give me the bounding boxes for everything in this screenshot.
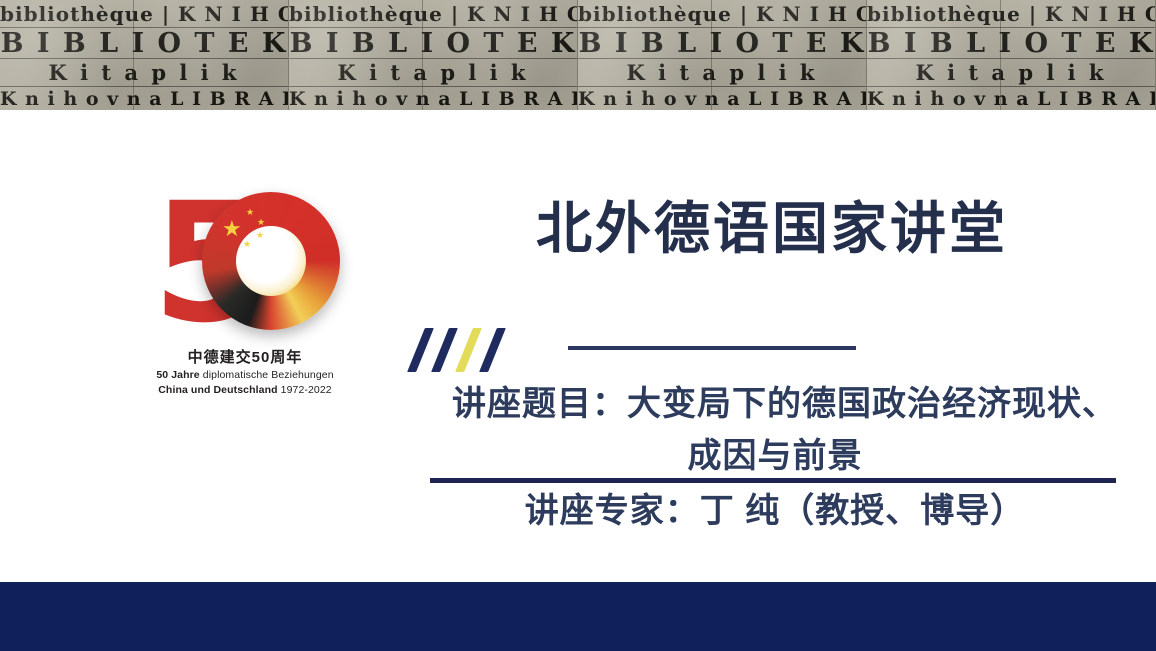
- facade-row-3: K i t a p l i k: [289, 59, 577, 87]
- facade-row-2: B I B L I O T E K: [578, 28, 866, 59]
- logo-caption-german-1-bold: 50 Jahre: [156, 369, 199, 381]
- facade-tile: bibliothèque | K N I H O V N A | B I B L…: [0, 0, 289, 110]
- facade-row-2: B I B L I O T E K: [867, 28, 1155, 59]
- divider-short: [568, 346, 856, 350]
- slash-mark-2: [431, 328, 458, 372]
- facade-row-1: bibliothèque | K N I H O V N A |: [578, 0, 866, 28]
- lecture-topic-line-2: 成因与前景: [430, 430, 1120, 482]
- mortar-seam: [133, 0, 134, 110]
- logo-mark: 5 ★ ★ ★ ★ ★: [150, 192, 340, 342]
- facade-tile: bibliothèque | K N I H O V N A | B I B L…: [867, 0, 1156, 110]
- facade-row-1: bibliothèque | K N I H O V N A |: [0, 0, 288, 28]
- facade-row-3: K i t a p l i k: [0, 59, 288, 87]
- mortar-seam: [422, 0, 423, 110]
- logo-caption-german-2-rest: 1972-2022: [278, 384, 332, 396]
- facade-row-2: B I B L I O T E K: [0, 28, 288, 59]
- facade-row-4: K n i h o v n a L I B R A R Y: [867, 87, 1155, 110]
- facade-row-1: bibliothèque | K N I H O V N A |: [867, 0, 1155, 28]
- logo-caption-german-1-rest: diplomatische Beziehungen: [200, 369, 334, 381]
- facade-row-3: K i t a p l i k: [578, 59, 866, 87]
- page-title: 北外德语国家讲堂: [536, 198, 1096, 260]
- logo-caption-german-1: 50 Jahre diplomatische Beziehungen: [138, 368, 352, 383]
- facade-row-2: B I B L I O T E K: [289, 28, 577, 59]
- facade-tile: bibliothèque | K N I H O V N A | B I B L…: [289, 0, 578, 110]
- china-germany-50-logo: 5 ★ ★ ★ ★ ★ 中德建交50周年 50 Jahre diplomatis…: [138, 192, 352, 404]
- lecture-poster: bibliothèque | K N I H O V N A | B I B L…: [0, 0, 1156, 651]
- logo-caption-german-2: China und Deutschland 1972-2022: [138, 383, 352, 398]
- slash-mark-4: [479, 328, 506, 372]
- facade-tile: bibliothèque | K N I H O V N A | B I B L…: [578, 0, 867, 110]
- lecture-speaker: 讲座专家：丁 纯（教授、博导）: [430, 487, 1120, 535]
- mortar-seam: [1000, 0, 1001, 110]
- facade-row-4: K n i h o v n a L I B R A R Y: [0, 87, 288, 110]
- slash-decoration: [414, 328, 524, 372]
- lecture-topic-line-1: 讲座题目：大变局下的德国政治经济现状、: [430, 378, 1120, 430]
- slash-mark-1: [407, 328, 434, 372]
- lecture-topic: 讲座题目：大变局下的德国政治经济现状、 成因与前景: [430, 378, 1120, 482]
- divider-long: [430, 478, 1116, 483]
- facade-row-3: K i t a p l i k: [867, 59, 1155, 87]
- facade-row-4: K n i h o v n a L I B R A R Y: [578, 87, 866, 110]
- slash-mark-3: [455, 328, 482, 372]
- facade-row-4: K n i h o v n a L I B R A R Y: [289, 87, 577, 110]
- logo-caption-german-2-bold: China und Deutschland: [158, 384, 277, 396]
- library-facade-photo: bibliothèque | K N I H O V N A | B I B L…: [0, 0, 1156, 110]
- facade-row-1: bibliothèque | K N I H O V N A |: [289, 0, 577, 28]
- mortar-seam: [711, 0, 712, 110]
- logo-ring-zero: [202, 192, 340, 330]
- footer-bar: [0, 582, 1156, 651]
